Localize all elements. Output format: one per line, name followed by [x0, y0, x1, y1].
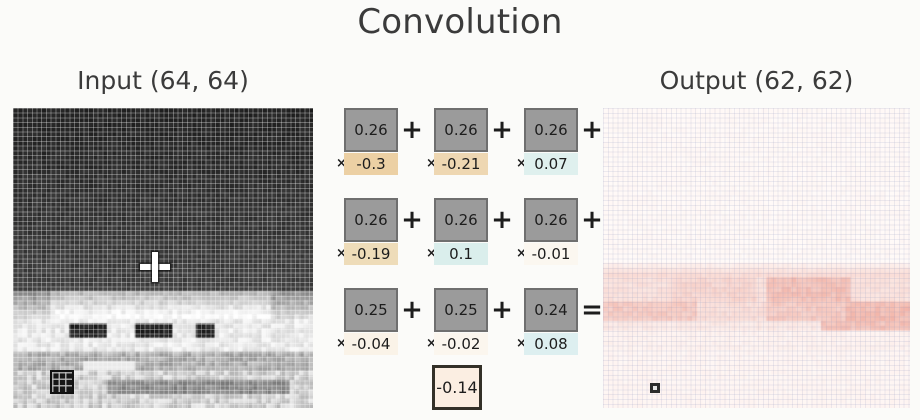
activation-cell: 0.26 [434, 198, 488, 242]
output-panel-caption: Output (62, 62) [603, 66, 910, 95]
calc-term: 0.25 × -0.02 [426, 288, 488, 355]
convolution-result-box: -0.14 [432, 365, 482, 410]
weight-line: × 0.08 [516, 333, 578, 355]
output-feature-map[interactable] [603, 108, 910, 408]
operator-plus: + [398, 198, 426, 242]
weight-line: × -0.04 [336, 333, 398, 355]
operator-plus: + [578, 198, 606, 242]
page-title: Convolution [0, 2, 920, 42]
calc-term: 0.26 × -0.3 [336, 108, 398, 175]
weight-cell: -0.01 [524, 243, 578, 265]
activation-cell: 0.24 [524, 288, 578, 332]
calc-term: 0.24 × 0.08 [516, 288, 578, 355]
calc-term: 0.26 × -0.19 [336, 198, 398, 265]
activation-cell: 0.26 [524, 108, 578, 152]
operator-plus: + [398, 108, 426, 152]
multiply-icon: × [336, 153, 344, 175]
calc-term: 0.26 × 0.1 [426, 198, 488, 265]
multiply-icon: × [426, 153, 434, 175]
calc-term: 0.25 × -0.04 [336, 288, 398, 355]
input-feature-map[interactable] [13, 108, 313, 408]
weight-line: × 0.1 [426, 243, 488, 265]
output-image-canvas [603, 108, 910, 408]
weight-cell: -0.19 [344, 243, 398, 265]
activation-cell: 0.25 [434, 288, 488, 332]
calc-row: 0.26 × -0.3 + 0.26 × -0.21 + 0.26 × 0.07… [336, 108, 588, 180]
activation-cell: 0.26 [344, 198, 398, 242]
input-panel-caption: Input (64, 64) [13, 66, 313, 95]
multiply-icon: × [336, 333, 344, 355]
multiply-icon: × [426, 243, 434, 265]
calc-term: 0.26 × -0.01 [516, 198, 578, 265]
multiply-icon: × [516, 153, 524, 175]
weight-line: × -0.19 [336, 243, 398, 265]
weight-line: × -0.01 [516, 243, 578, 265]
calc-row: 0.25 × -0.04 + 0.25 × -0.02 + 0.24 × 0.0… [336, 288, 588, 360]
weight-cell: 0.07 [524, 153, 578, 175]
output-pixel-marker [650, 383, 660, 393]
activation-cell: 0.25 [344, 288, 398, 332]
operator-plus: + [578, 108, 606, 152]
weight-line: × -0.21 [426, 153, 488, 175]
operator-plus: + [488, 108, 516, 152]
multiply-icon: × [336, 243, 344, 265]
crosshair-cursor-icon [140, 252, 170, 282]
operator-plus: + [488, 288, 516, 332]
activation-cell: 0.26 [524, 198, 578, 242]
activation-cell: 0.26 [344, 108, 398, 152]
weight-line: × -0.3 [336, 153, 398, 175]
multiply-icon: × [516, 333, 524, 355]
operator-plus: + [488, 198, 516, 242]
operator-equals: = [578, 288, 606, 332]
multiply-icon: × [426, 333, 434, 355]
calc-term: 0.26 × 0.07 [516, 108, 578, 175]
weight-line: × -0.02 [426, 333, 488, 355]
activation-cell: 0.26 [434, 108, 488, 152]
receptive-field-marker [50, 370, 74, 394]
weight-cell: -0.02 [434, 333, 488, 355]
weight-cell: 0.08 [524, 333, 578, 355]
calc-row: 0.26 × -0.19 + 0.26 × 0.1 + 0.26 × -0.01… [336, 198, 588, 270]
weight-line: × 0.07 [516, 153, 578, 175]
weight-cell: -0.21 [434, 153, 488, 175]
weight-cell: -0.04 [344, 333, 398, 355]
weight-cell: -0.3 [344, 153, 398, 175]
operator-plus: + [398, 288, 426, 332]
calc-term: 0.26 × -0.21 [426, 108, 488, 175]
weight-cell: 0.1 [434, 243, 488, 265]
convolution-computation: 0.26 × -0.3 + 0.26 × -0.21 + 0.26 × 0.07… [336, 108, 588, 408]
multiply-icon: × [516, 243, 524, 265]
